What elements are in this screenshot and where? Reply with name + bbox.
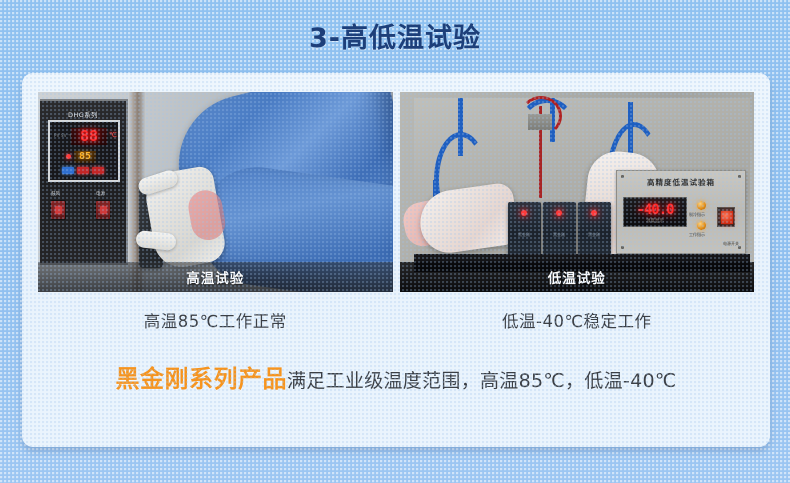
sub-caption-low-temp: 低温-40℃稳定工作 xyxy=(400,305,755,339)
chamber-temperature-sublabel: 温度显示 xyxy=(624,218,686,224)
oven-button-up[interactable] xyxy=(77,167,89,174)
device-label-2: 黑金刚 xyxy=(543,232,576,238)
device-label-1: 黑金刚 xyxy=(508,232,541,238)
photo-overlay-caption-left: 高温试验 xyxy=(38,262,393,292)
device-under-test-2: 黑金刚 xyxy=(543,202,576,260)
oven-button-down[interactable] xyxy=(92,167,104,174)
sub-caption-high-temp: 高温85℃工作正常 xyxy=(38,305,393,339)
section-title: 3-高低温试验 xyxy=(0,16,790,55)
oven-knob-left-label: 鼓风 xyxy=(51,191,60,197)
panel-screw-tl-icon xyxy=(621,175,624,178)
device-led-icon-2 xyxy=(556,210,562,216)
cooling-indicator-label: 制冷指示 xyxy=(689,212,705,218)
device-under-test-group: 黑金刚 黑金刚 黑金刚 xyxy=(508,202,612,260)
working-indicator-light-icon xyxy=(697,221,706,230)
content-card: DHG系列 PV SV ℃ 88 ℃ 85 鼓风 电源 xyxy=(22,73,770,447)
chamber-power-switch[interactable] xyxy=(717,207,735,227)
device-label-3: 黑金刚 xyxy=(578,232,611,238)
oven-control-panel: DHG系列 PV SV ℃ 88 ℃ 85 鼓风 电源 xyxy=(40,99,128,265)
summary-rest: 满足工业级温度范围，高温85℃，低温-40℃ xyxy=(287,370,677,392)
summary-line: 黑金刚系列产品满足工业级温度范围，高温85℃，低温-40℃ xyxy=(22,359,770,394)
chamber-temperature-value: -40.0 xyxy=(624,202,686,218)
oven-knob-fan[interactable] xyxy=(50,200,66,220)
oven-button-row[interactable] xyxy=(62,167,104,174)
panel-screw-tr-icon xyxy=(738,175,741,178)
cooling-indicator-light-icon xyxy=(697,201,706,210)
photo-sub-caption-row: 高温85℃工作正常 低温-40℃稳定工作 xyxy=(38,305,754,339)
oven-brand-label: DHG系列 xyxy=(40,109,126,119)
oven-knob-right-label: 电源 xyxy=(96,191,105,197)
chamber-temperature-display: -40.0 温度显示 xyxy=(623,197,687,227)
oven-button-set[interactable] xyxy=(62,167,74,174)
photo-low-temperature-test[interactable]: 黑金刚 黑金刚 黑金刚 高精度低温试验箱 -40.0 xyxy=(400,92,755,292)
oven-temperature-display: 88 xyxy=(71,128,107,145)
chamber-power-switch-label: 电源开关 xyxy=(723,241,739,247)
device-led-icon-3 xyxy=(591,210,597,216)
chamber-mount-bracket xyxy=(528,114,552,130)
oven-temperature-unit: ℃ xyxy=(109,131,117,139)
oven-knob-power[interactable] xyxy=(95,200,111,220)
photo-row: DHG系列 PV SV ℃ 88 ℃ 85 鼓风 电源 xyxy=(38,92,754,292)
device-under-test-1: 黑金刚 xyxy=(508,202,541,260)
summary-highlight: 黑金刚系列产品 xyxy=(116,365,288,393)
device-led-icon-1 xyxy=(521,210,527,216)
device-under-test-3: 黑金刚 xyxy=(578,202,611,260)
oven-setpoint-display: 85 xyxy=(74,151,96,163)
photo-overlay-caption-right: 低温试验 xyxy=(400,262,755,292)
photo-high-temperature-test[interactable]: DHG系列 PV SV ℃ 88 ℃ 85 鼓风 电源 xyxy=(38,92,393,292)
oven-status-led-icon xyxy=(66,154,71,159)
chamber-panel-title: 高精度低温试验箱 xyxy=(617,177,745,188)
chamber-control-panel: 高精度低温试验箱 -40.0 温度显示 制冷指示 工作指示 电源开关 xyxy=(616,170,746,254)
oven-display-screen: PV SV ℃ 88 ℃ 85 xyxy=(48,120,120,182)
panel-screw-bl-icon xyxy=(621,246,624,249)
working-indicator-label: 工作指示 xyxy=(689,232,705,238)
